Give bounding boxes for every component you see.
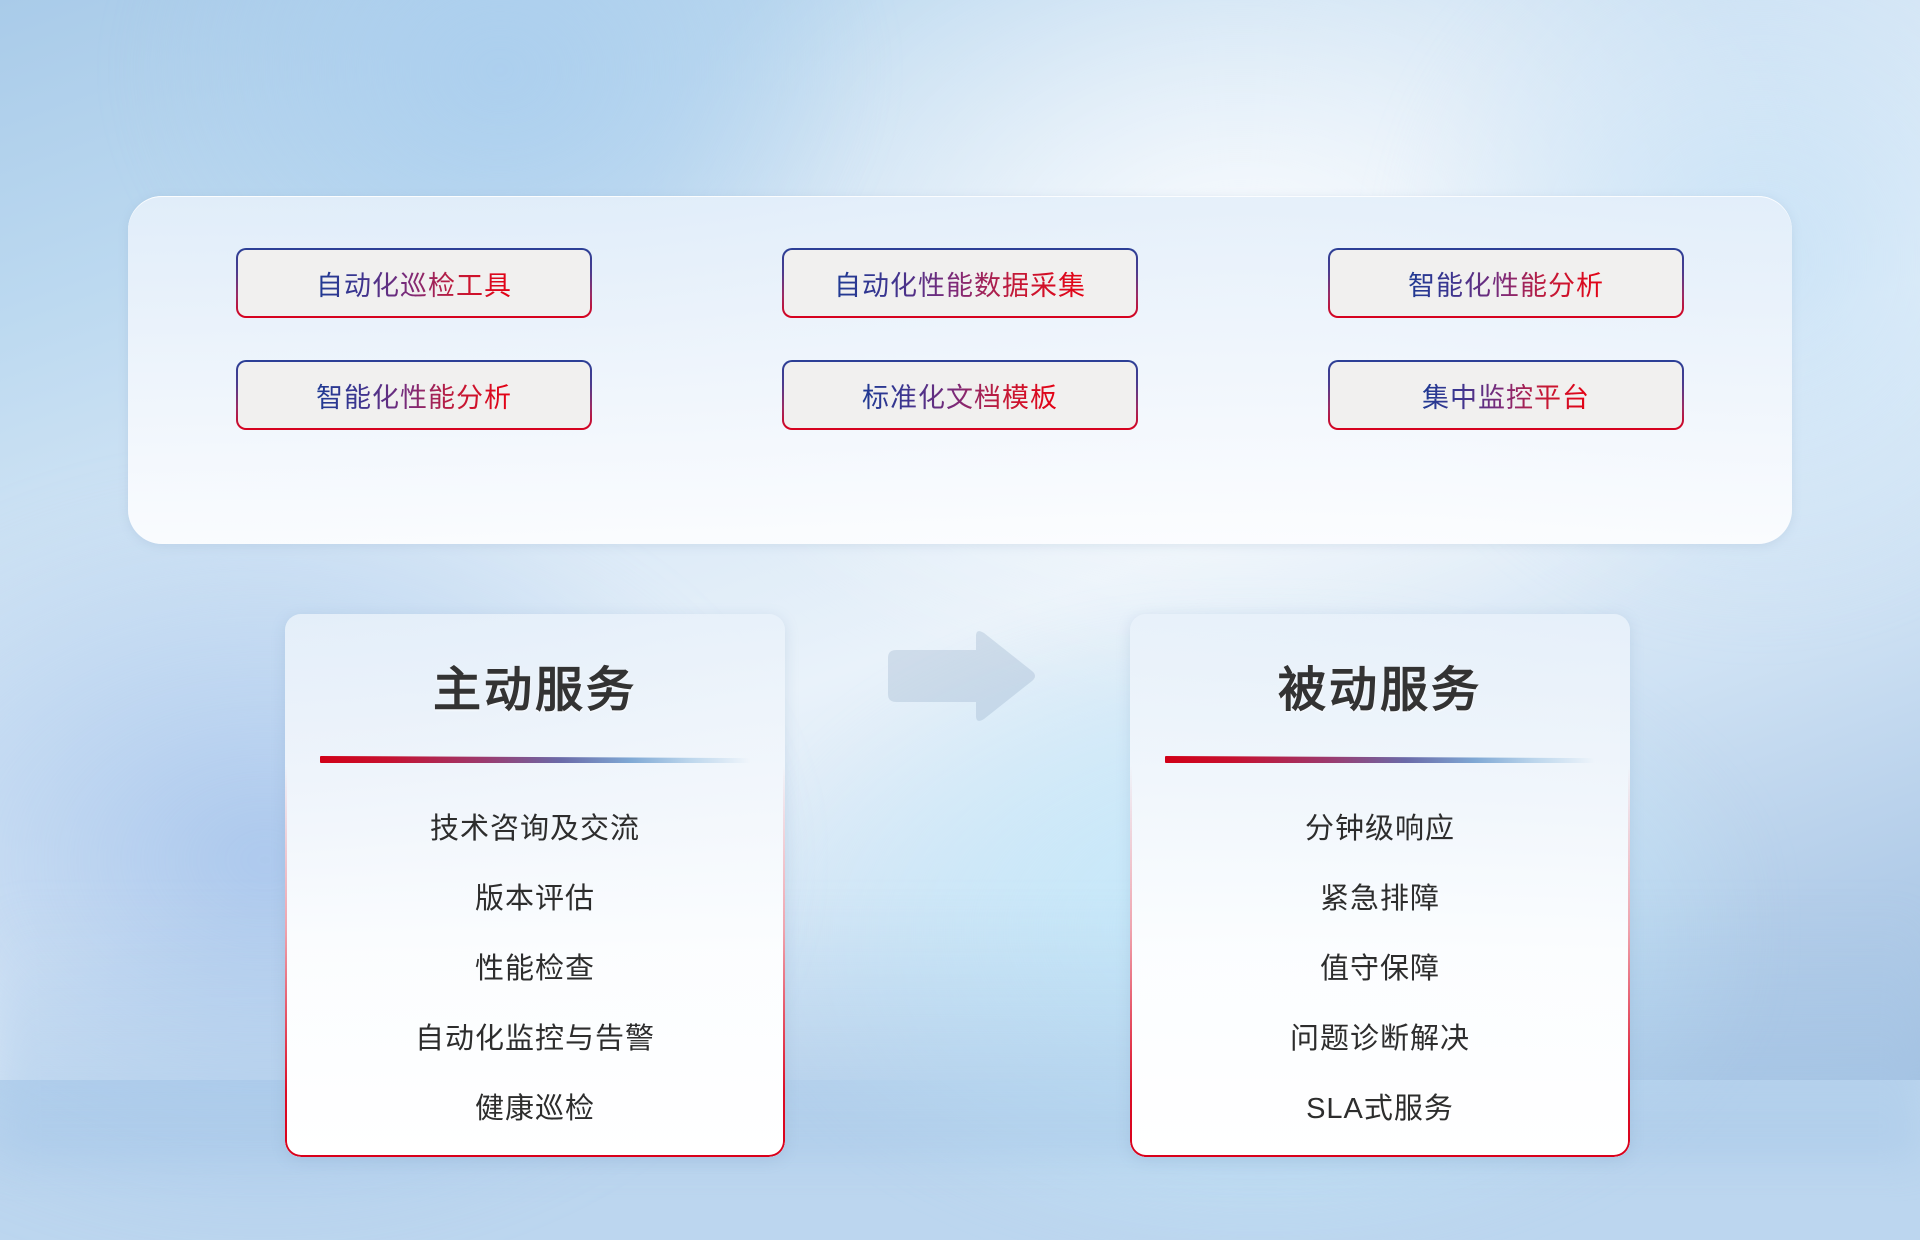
arrow-right-icon [880,628,1040,724]
tag-box-intelligent-performance-analysis-bottom[interactable]: 智能化性能分析 [236,360,592,430]
capability-tags-panel: 自动化巡检工具 自动化性能数据采集 智能化性能分析 智能化性能分析 标准化文档模… [128,196,1792,544]
tag-row-1: 自动化巡检工具 自动化性能数据采集 智能化性能分析 [236,248,1684,318]
card-title-active: 主动服务 [285,614,785,720]
service-list-active: 技术咨询及交流 版本评估 性能检查 自动化监控与告警 健康巡检 [285,791,785,1141]
tag-label: 标准化文档模板 [862,376,1058,415]
list-item[interactable]: 自动化监控与告警 [285,1001,785,1071]
list-item[interactable]: 技术咨询及交流 [285,791,785,861]
tag-row-2: 智能化性能分析 标准化文档模板 集中监控平台 [236,360,1684,430]
card-title-passive: 被动服务 [1130,614,1630,720]
tag-box-automated-performance-data-collection[interactable]: 自动化性能数据采集 [782,248,1138,318]
service-card-active: 主动服务 技术咨询及交流 版本评估 性能检查 自动化监控与告警 健康巡检 [285,614,785,1157]
tag-label: 智能化性能分析 [1408,264,1604,303]
list-item[interactable]: 分钟级响应 [1130,791,1630,861]
tag-box-intelligent-performance-analysis-top[interactable]: 智能化性能分析 [1328,248,1684,318]
tag-label: 自动化性能数据采集 [834,264,1086,303]
tag-label: 自动化巡检工具 [316,264,512,303]
list-item[interactable]: 性能检查 [285,931,785,1001]
list-item[interactable]: 紧急排障 [1130,861,1630,931]
list-item[interactable]: SLA式服务 [1130,1071,1630,1141]
list-item[interactable]: 值守保障 [1130,931,1630,1001]
card-divider-passive [1165,756,1595,763]
tag-label: 集中监控平台 [1422,376,1590,415]
service-card-passive: 被动服务 分钟级响应 紧急排障 值守保障 问题诊断解决 SLA式服务 [1130,614,1630,1157]
tag-box-standardized-document-template[interactable]: 标准化文档模板 [782,360,1138,430]
list-item[interactable]: 问题诊断解决 [1130,1001,1630,1071]
list-item[interactable]: 版本评估 [285,861,785,931]
tag-label: 智能化性能分析 [316,376,512,415]
tag-box-automated-inspection-tool[interactable]: 自动化巡检工具 [236,248,592,318]
service-list-passive: 分钟级响应 紧急排障 值守保障 问题诊断解决 SLA式服务 [1130,791,1630,1141]
card-divider-active [320,756,750,763]
tag-box-centralized-monitoring-platform[interactable]: 集中监控平台 [1328,360,1684,430]
list-item[interactable]: 健康巡检 [285,1071,785,1141]
